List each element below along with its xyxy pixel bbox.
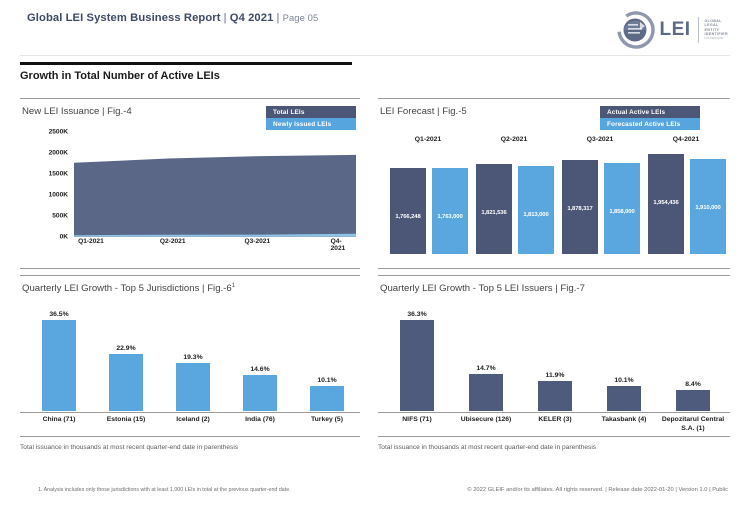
- fig4-ytick-0: 0K: [60, 234, 68, 241]
- fig5-bar-q1-forecast: 1,763,000: [432, 168, 468, 254]
- fig6-plot-area: 36.5% 22.9% 19.3% 14.6% 10.1%: [20, 305, 360, 411]
- fig5-value-q4-forecast: 1,910,000: [690, 205, 726, 211]
- fig4-xtick-q2: Q2-2021: [160, 238, 186, 245]
- fig5-legend-forecast: Forecasted Active LEIs: [600, 118, 700, 130]
- fig4-ytick-1500: 1500K: [49, 171, 68, 178]
- fig7-bar-ubisecure: 14.7%: [469, 374, 503, 411]
- fig5-bar-q1-actual: 1,766,248: [390, 168, 426, 254]
- fig6-bar-estonia: 22.9%: [109, 354, 143, 411]
- fig6-bar-india: 14.6%: [243, 375, 277, 412]
- panel-fig4-bottom-rule: [20, 268, 360, 269]
- fig5-bar-q4-forecast: 1,910,000: [690, 159, 726, 254]
- fig5-value-q1-actual: 1,766,248: [390, 214, 426, 220]
- panel-fig5-rule: [378, 98, 730, 99]
- panel-fig6-title: Quarterly LEI Growth - Top 5 Jurisdictio…: [22, 283, 235, 294]
- logo-divider: [698, 17, 699, 43]
- fig5-value-q4-actual: 1,954,436: [648, 200, 684, 206]
- fig7-plot-area: 36.3% 14.7% 11.9% 10.1% 8.4%: [378, 305, 730, 411]
- fig4-ytick-2500: 2500K: [49, 129, 68, 136]
- fig6-cat-india: India (76): [223, 415, 297, 424]
- fig4-xtick-q4: Q4-2021: [331, 238, 348, 252]
- panel-fig6-title-text: Quarterly LEI Growth - Top 5 Jurisdictio…: [22, 283, 232, 294]
- gleif-lei-logo: LEI GLOBAL LEGAL ENTITY IDENTIFIER FOUND…: [616, 10, 728, 50]
- fig4-xtick-q1: Q1-2021: [78, 238, 104, 245]
- header-sep-1: |: [224, 12, 227, 24]
- logo-subtext: GLOBAL LEGAL ENTITY IDENTIFIER FOUNDATIO…: [705, 19, 728, 42]
- fig7-value-nifs: 36.3%: [407, 311, 426, 318]
- panel-fig6: Quarterly LEI Growth - Top 5 Jurisdictio…: [20, 275, 360, 455]
- fig7-cat-ubisecure: Ubisecure (126): [448, 415, 524, 424]
- fig6-x-axis: [20, 412, 360, 413]
- fig5-group-labels: Q1-2021 Q2-2021 Q3-2021 Q4-2021: [382, 136, 730, 150]
- fig7-bar-keler: 11.9%: [538, 381, 572, 411]
- fig4-ytick-2000: 2000K: [49, 150, 68, 157]
- panel-fig5-bottom-rule: [378, 268, 730, 269]
- fig5-group-q1: Q1-2021: [415, 136, 441, 143]
- fig6-cat-china: China (71): [22, 415, 96, 424]
- panel-fig4-title: New LEI Issuance | Fig.-4: [22, 106, 132, 117]
- fig7-cat-takasbank: Takasbank (4): [586, 415, 662, 424]
- fig4-xtick-q3: Q3-2021: [244, 238, 270, 245]
- fig6-value-iceland: 19.3%: [183, 354, 202, 361]
- panel-fig7-bottom-rule: [378, 436, 730, 437]
- fig5-legend: Actual Active LEIs Forecasted Active LEI…: [600, 106, 700, 130]
- report-page: Global LEI System Business Report|Q4 202…: [0, 0, 750, 510]
- panel-fig6-title-sup: 1: [232, 283, 235, 289]
- fig7-chart: 36.3% 14.7% 11.9% 10.1% 8.4%: [378, 305, 730, 425]
- fig4-legend-total: Total LEIs: [266, 106, 356, 118]
- fig4-chart: 0K 500K 1000K 1500K 2000K 2500K Q1-2021 …: [20, 132, 360, 257]
- fig6-value-turkey: 10.1%: [317, 377, 336, 384]
- fig7-value-takasbank: 10.1%: [614, 377, 633, 384]
- fig4-ytick-1000: 1000K: [49, 192, 68, 199]
- fig7-bar-takasbank: 10.1%: [607, 386, 641, 411]
- fig6-bar-china: 36.5%: [42, 320, 76, 411]
- fig4-legend-newly: Newly Issued LEIs: [266, 118, 356, 130]
- fig5-group-q4: Q4-2021: [673, 136, 699, 143]
- fig5-bar-q2-forecast: 1,813,000: [518, 166, 554, 254]
- fig5-bar-q2-actual: 1,821,536: [476, 164, 512, 254]
- fig7-cat-depozitarul: Depozitarul Central S.A. (1): [655, 415, 731, 433]
- page-footnote: 1. Analysis includes only those jurisdic…: [38, 487, 291, 493]
- fig6-bar-iceland: 19.3%: [176, 363, 210, 411]
- fig7-value-ubisecure: 14.7%: [476, 365, 495, 372]
- fig5-bar-q3-forecast: 1,858,000: [604, 163, 640, 254]
- panel-fig6-rule: [20, 275, 360, 276]
- panel-fig4: New LEI Issuance | Fig.-4 Total LEIs New…: [20, 98, 360, 263]
- fig6-cat-turkey: Turkey (5): [290, 415, 364, 424]
- report-quarter: Q4 2021: [230, 12, 274, 24]
- fig7-bar-nifs: 36.3%: [400, 320, 434, 411]
- fig5-bar-q3-actual: 1,878,317: [562, 160, 598, 254]
- page-number: Page 05: [283, 12, 319, 23]
- report-title: Global LEI System Business Report: [27, 12, 221, 24]
- fig5-bars: 1,766,248 1,763,000 1,821,536 1,813,000 …: [382, 154, 730, 254]
- fig4-plot-area: [74, 132, 356, 237]
- header-sep-2: |: [276, 12, 279, 24]
- fig4-ytick-500: 500K: [52, 213, 68, 220]
- panel-fig6-bottom-rule: [20, 436, 360, 437]
- panel-fig5-title: LEI Forecast | Fig.-5: [380, 106, 467, 117]
- panel-fig7-title: Quarterly LEI Growth - Top 5 LEI Issuers…: [380, 283, 585, 294]
- fig6-cat-iceland: Iceland (2): [156, 415, 230, 424]
- fig5-value-q2-actual: 1,821,536: [476, 210, 512, 216]
- fig7-cat-nifs: NIFS (71): [379, 415, 455, 424]
- fig4-x-axis: Q1-2021 Q2-2021 Q3-2021 Q4-2021: [74, 238, 356, 252]
- fig6-bar-turkey: 10.1%: [310, 386, 344, 411]
- fig5-value-q2-forecast: 1,813,000: [518, 212, 554, 218]
- fig5-legend-actual: Actual Active LEIs: [600, 106, 700, 118]
- header-title: Global LEI System Business Report|Q4 202…: [27, 12, 318, 24]
- fig4-legend: Total LEIs Newly Issued LEIs: [266, 106, 356, 130]
- fig4-y-axis: 0K 500K 1000K 1500K 2000K 2500K: [20, 132, 72, 237]
- fig6-chart: 36.5% 22.9% 19.3% 14.6% 10.1%: [20, 305, 360, 425]
- fig6-value-india: 14.6%: [250, 366, 269, 373]
- fig7-value-keler: 11.9%: [546, 372, 565, 379]
- lei-globe-icon: [616, 10, 656, 50]
- fig7-cat-keler: KELER (3): [517, 415, 593, 424]
- section-accent-bar: [20, 62, 352, 65]
- fig5-bar-q4-actual: 1,954,436: [648, 154, 684, 254]
- panel-fig7: Quarterly LEI Growth - Top 5 LEI Issuers…: [378, 275, 730, 455]
- panel-fig6-note: Total issuance in thousands at most rece…: [20, 444, 238, 451]
- fig5-group-q3: Q3-2021: [587, 136, 613, 143]
- fig6-cat-estonia: Estonia (15): [89, 415, 163, 424]
- fig7-bar-depozitarul: 8.4%: [676, 390, 710, 411]
- panel-fig7-note: Total issuance in thousands at most rece…: [378, 444, 596, 451]
- fig5-value-q3-forecast: 1,858,000: [604, 209, 640, 215]
- fig7-value-depozitarul: 8.4%: [685, 381, 701, 388]
- fig5-chart: Q1-2021 Q2-2021 Q3-2021 Q4-2021 1,766,24…: [382, 136, 730, 258]
- fig5-value-q1-forecast: 1,763,000: [432, 214, 468, 220]
- logo-sub-foundation: FOUNDATION: [705, 37, 728, 42]
- logo-wordmark: LEI: [659, 19, 690, 41]
- page-copyright: © 2022 GLEIF and/or its affiliates. All …: [467, 487, 728, 493]
- panel-fig4-rule: [20, 98, 360, 99]
- panel-fig5: LEI Forecast | Fig.-5 Actual Active LEIs…: [378, 98, 730, 263]
- fig6-value-china: 36.5%: [49, 311, 68, 318]
- fig5-value-q3-actual: 1,878,317: [562, 206, 598, 212]
- fig7-x-axis: [378, 412, 730, 413]
- fig6-value-estonia: 22.9%: [116, 345, 135, 352]
- fig5-group-q2: Q2-2021: [501, 136, 527, 143]
- page-header: Global LEI System Business Report|Q4 202…: [0, 0, 750, 62]
- header-divider: [20, 55, 730, 56]
- panel-fig7-rule: [378, 275, 730, 276]
- fig4-area-total: [74, 155, 356, 237]
- section-title: Growth in Total Number of Active LEIs: [20, 70, 220, 82]
